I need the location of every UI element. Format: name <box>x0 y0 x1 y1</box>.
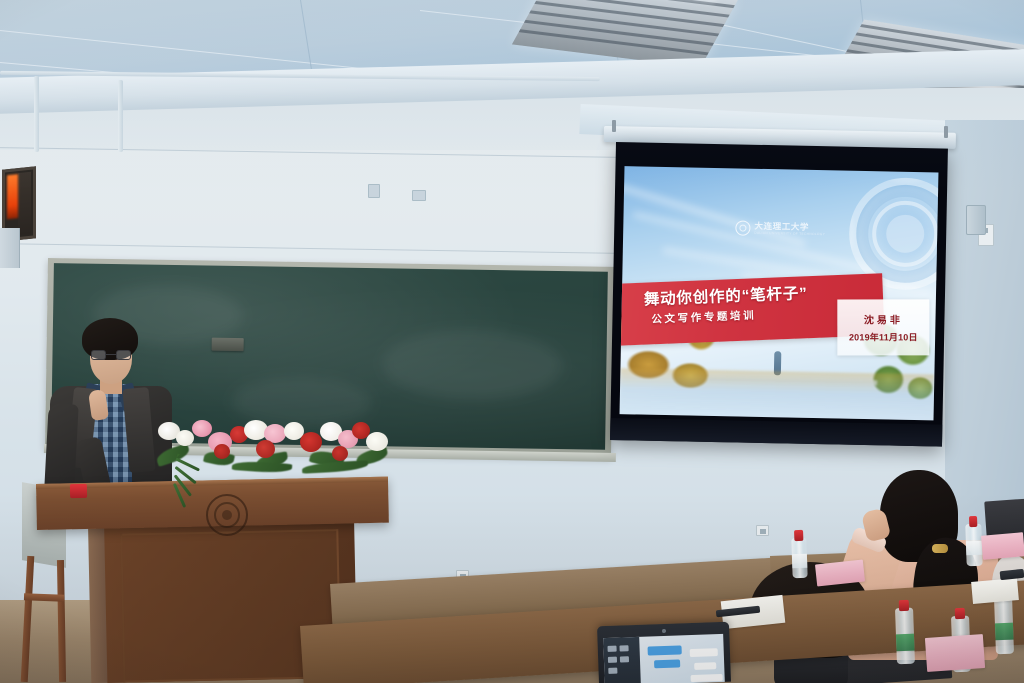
wall-speaker-left <box>0 228 20 268</box>
chat-bubble-outgoing <box>648 645 682 655</box>
name-card-3 <box>925 634 985 672</box>
wall-fixture-left <box>368 184 380 198</box>
flower-white <box>176 430 194 446</box>
slide-presenter-card: 沈易非 2019年11月10日 <box>837 299 929 355</box>
flower-arrangement <box>152 418 398 490</box>
university-logo: 大连理工大学 DALIAN UNIVERSITY OF TECHNOLOGY <box>735 220 825 237</box>
handout-paper-2 <box>971 578 1019 604</box>
slide-water-reflection <box>620 368 935 420</box>
water-bottle-3[interactable] <box>895 608 915 665</box>
screen-mount-left <box>612 120 616 132</box>
flower-red <box>256 440 275 458</box>
laptop-screen[interactable] <box>603 634 725 683</box>
chat-bubble-incoming-3 <box>691 674 723 682</box>
lecture-hall-photo: 大连理工大学 DALIAN UNIVERSITY OF TECHNOLOGY 舞… <box>0 0 1024 683</box>
flower-red <box>332 446 348 461</box>
flower-red <box>214 444 230 459</box>
wall-outlet-right[interactable] <box>756 525 769 536</box>
laptop[interactable] <box>598 624 730 683</box>
chat-bubble-incoming-2 <box>694 662 716 670</box>
podium-bottle-cap <box>70 484 87 498</box>
eyeglasses-icon <box>91 350 131 360</box>
hair-tie <box>932 544 948 553</box>
projection-screen: 大连理工大学 DALIAN UNIVERSITY OF TECHNOLOGY 舞… <box>610 142 948 447</box>
wall-speaker-right <box>966 205 986 235</box>
chat-bubble-outgoing-2 <box>654 659 680 668</box>
university-logo-mark <box>735 220 750 235</box>
flower-pink <box>192 420 212 437</box>
presentation-slide: 大连理工大学 DALIAN UNIVERSITY OF TECHNOLOGY 舞… <box>620 166 939 420</box>
university-logo-en: DALIAN UNIVERSITY OF TECHNOLOGY <box>754 232 825 237</box>
flower-red <box>300 432 322 452</box>
wall-conduit-vertical <box>34 76 39 152</box>
water-bottle-5[interactable] <box>994 596 1014 655</box>
name-card-2 <box>981 532 1024 560</box>
water-bottle-2[interactable] <box>965 524 982 567</box>
chalk-tray <box>212 338 244 352</box>
flower-white <box>366 432 388 451</box>
wall-fixture-right <box>412 190 426 201</box>
slide-presenter-name: 沈易非 <box>864 311 903 326</box>
water-bottle-1[interactable] <box>791 538 807 578</box>
chat-bubble-incoming <box>690 648 718 657</box>
wall-conduit-vertical-2 <box>118 80 123 152</box>
slide-presenter-date: 2019年11月10日 <box>849 330 918 343</box>
screen-mount-right <box>944 126 948 138</box>
